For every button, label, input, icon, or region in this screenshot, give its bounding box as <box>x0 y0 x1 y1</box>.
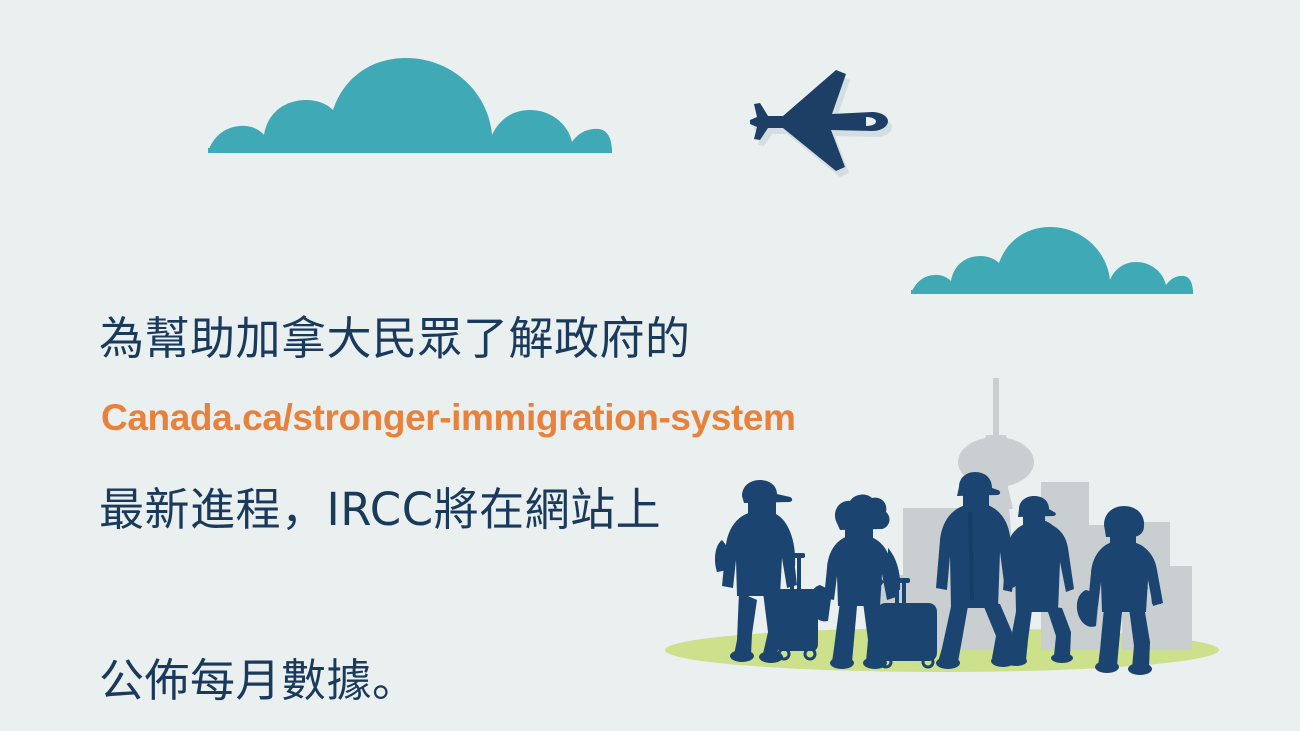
page-headline: 為幫助加拿大民眾了解政府的 最新進程，IRCC將在網站上 公佈每月數據。 <box>99 196 759 731</box>
headline-line-3: 公佈每月數據。 <box>99 652 759 709</box>
headline-line-1: 為幫助加拿大民眾了解政府的 <box>99 310 759 367</box>
airplane-icon <box>750 70 892 177</box>
headline-line-2: 最新進程，IRCC將在網站上 <box>99 481 759 538</box>
cloud-large <box>208 58 612 153</box>
slide-canvas: 為幫助加拿大民眾了解政府的 最新進程，IRCC將在網站上 公佈每月數據。 Can… <box>0 0 1300 731</box>
cloud-small <box>911 227 1193 294</box>
canada-ca-url[interactable]: Canada.ca/stronger-immigration-system <box>101 396 796 440</box>
